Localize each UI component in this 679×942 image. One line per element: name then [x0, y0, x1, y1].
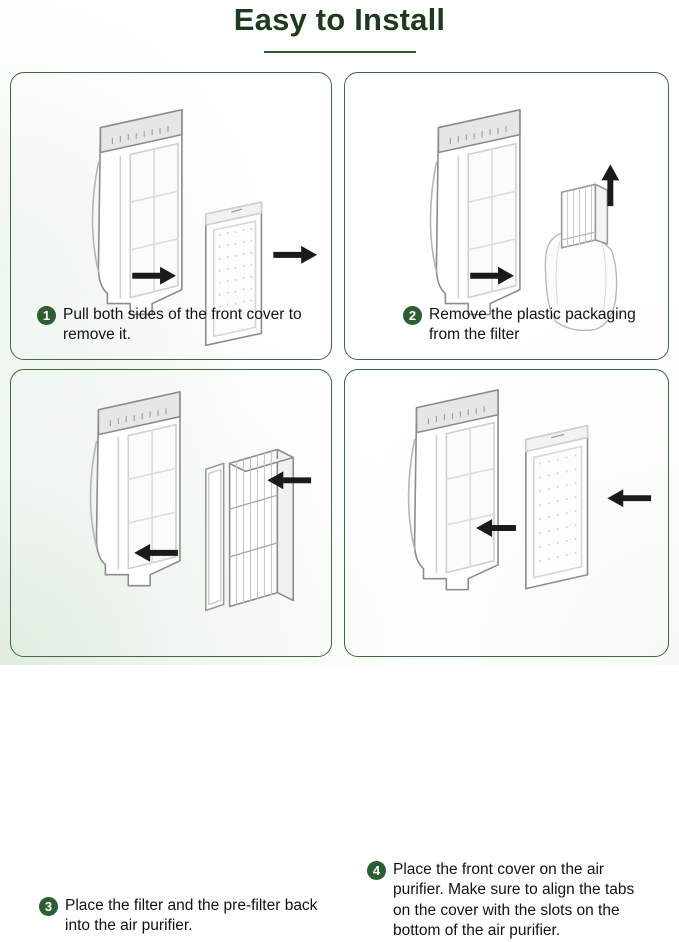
step-4-number: 4	[367, 861, 386, 880]
step-card-3: 3 Place the filter and the pre-filter ba…	[10, 369, 332, 657]
step-3-text: Place the filter and the pre-filter back…	[65, 896, 323, 937]
step-card-1: 1 Pull both sides of the front cover to …	[10, 72, 332, 360]
arrow-icon	[470, 164, 619, 284]
step-2-text: Remove the plastic packaging from the fi…	[429, 305, 653, 346]
instruction-page: Easy to Install	[0, 0, 679, 665]
step-1-caption: 1 Pull both sides of the front cover to …	[37, 305, 315, 346]
arrow-icon	[476, 489, 651, 537]
steps-grid: 1 Pull both sides of the front cover to …	[10, 72, 669, 657]
step-3-number: 3	[39, 897, 58, 916]
step-2-number: 2	[403, 306, 422, 325]
page-title: Easy to Install	[0, 2, 679, 38]
step-1-number: 1	[37, 306, 56, 325]
step-4-caption: 4 Place the front cover on the air purif…	[367, 860, 639, 942]
step-card-2: 2 Remove the plastic packaging from the …	[344, 72, 669, 360]
step-2-caption: 2 Remove the plastic packaging from the …	[403, 305, 653, 346]
step-1-text: Pull both sides of the front cover to re…	[63, 305, 315, 346]
title-divider	[264, 51, 416, 53]
step-card-4: 4 Place the front cover on the air purif…	[344, 369, 669, 657]
step-4-text: Place the front cover on the air purifie…	[393, 860, 639, 942]
step-4-illustration	[345, 370, 668, 656]
arrow-icon	[132, 246, 317, 285]
step-3-illustration	[11, 370, 331, 656]
arrow-icon	[134, 471, 311, 561]
step-3-caption: 3 Place the filter and the pre-filter ba…	[39, 896, 323, 937]
